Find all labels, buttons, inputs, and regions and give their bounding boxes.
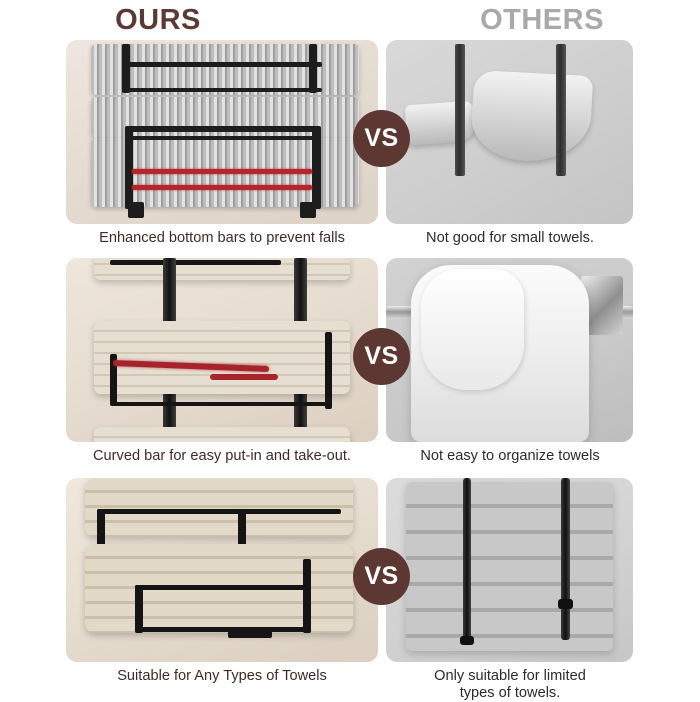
comparison-row-3: VS Suitable for Any Types of Towels Only… xyxy=(0,478,700,700)
red-highlight-bar-2 xyxy=(132,185,313,190)
shelf-frame-right xyxy=(325,332,332,409)
ours-photo-2 xyxy=(66,258,378,442)
ours-caption-2-text: Curved bar for easy put-in and take-out. xyxy=(93,448,351,465)
ours-caption-1: Enhanced bottom bars to prevent falls xyxy=(56,226,388,260)
upper-rack-bar xyxy=(97,509,340,514)
ours-caption-3: Suitable for Any Types of Towels xyxy=(56,664,388,698)
vs-badge-label-2: VS xyxy=(364,342,398,371)
lower-rack-bracket xyxy=(228,629,272,638)
comparison-infographic: OURS OTHERS xyxy=(0,0,700,700)
ours-image-card-1 xyxy=(66,40,378,224)
rack-bar-left xyxy=(455,44,465,176)
vertical-bar-left xyxy=(463,478,472,640)
ours-photo-1 xyxy=(66,40,378,224)
rack-bar-upper xyxy=(122,62,322,67)
red-highlight-bar-1 xyxy=(132,169,313,174)
rack-foot-right xyxy=(300,202,316,219)
others-image-card-2 xyxy=(386,258,633,442)
vertical-bar-cap-right xyxy=(558,599,573,608)
others-caption-2-text: Not easy to organize towels xyxy=(420,448,599,465)
rack-bar-lower xyxy=(125,126,320,131)
others-caption-3: Only suitable for limited types of towel… xyxy=(380,664,640,698)
towel-shelf-middle xyxy=(94,321,350,395)
towel-shelf-bottom xyxy=(94,427,350,442)
others-caption-3-line-1: Only suitable for limited xyxy=(434,668,586,685)
vs-badge-2: VS xyxy=(353,328,410,385)
vs-badge-label-1: VS xyxy=(364,124,398,153)
rack-post-lower-left xyxy=(125,126,133,209)
rack-post-right xyxy=(309,44,316,94)
rack-bar-upper-2 xyxy=(122,88,322,93)
rack-bar-right xyxy=(556,44,566,176)
lower-rack-post-right xyxy=(303,559,311,633)
row-3-cards: VS Suitable for Any Types of Towels Only… xyxy=(0,478,700,662)
falling-towel-right xyxy=(470,70,593,164)
lower-rack-bar xyxy=(135,585,310,590)
others-image-card-3 xyxy=(386,478,633,662)
rack-bar-lower-2 xyxy=(125,136,320,140)
row-1-cards: VS Enhanced bottom bars to prevent falls… xyxy=(0,40,700,224)
others-caption-2: Not easy to organize towels xyxy=(380,444,640,478)
rolled-towels-top xyxy=(85,478,353,537)
others-caption-1: Not good for small towels. xyxy=(380,226,640,260)
stacked-rolled-towels xyxy=(406,482,613,651)
shelf-frame-bottom xyxy=(110,402,332,407)
others-photo-1 xyxy=(386,40,633,224)
towel-fold xyxy=(421,269,525,390)
rack-post-left xyxy=(122,44,129,94)
falling-towel-left xyxy=(404,100,476,145)
ours-caption-1-text: Enhanced bottom bars to prevent falls xyxy=(99,230,345,247)
header: OURS OTHERS xyxy=(0,0,700,40)
comparison-row-2: VS Curved bar for easy put-in and take-o… xyxy=(0,258,700,474)
ours-image-card-2 xyxy=(66,258,378,442)
ours-caption-2: Curved bar for easy put-in and take-out. xyxy=(56,444,388,478)
shelf-frame-top xyxy=(110,260,282,265)
red-curved-bar-segment xyxy=(210,374,279,380)
others-photo-3 xyxy=(386,478,633,662)
others-caption-1-text: Not good for small towels. xyxy=(426,230,594,247)
lower-rack-post-left xyxy=(135,585,143,633)
comparison-row-1: VS Enhanced bottom bars to prevent falls… xyxy=(0,40,700,256)
vertical-bar-cap-left xyxy=(460,636,475,645)
header-cell-ours: OURS xyxy=(0,0,354,40)
others-title: OTHERS xyxy=(480,6,604,35)
lower-rack-bottom-bar xyxy=(135,627,310,632)
vs-badge-3: VS xyxy=(353,548,410,605)
vs-badge-1: VS xyxy=(353,110,410,167)
row-2-cards: VS Curved bar for easy put-in and take-o… xyxy=(0,258,700,442)
vs-badge-label-3: VS xyxy=(364,562,398,591)
rack-foot-left xyxy=(128,202,144,219)
others-photo-2 xyxy=(386,258,633,442)
ours-photo-3 xyxy=(66,478,378,662)
ours-caption-3-text: Suitable for Any Types of Towels xyxy=(117,668,327,685)
others-caption-3-line-2: types of towels. xyxy=(434,685,586,702)
header-cell-others: OTHERS xyxy=(354,0,700,40)
others-image-card-1 xyxy=(386,40,633,224)
vertical-bar-right xyxy=(561,478,570,640)
ours-image-card-3 xyxy=(66,478,378,662)
rack-post-lower-right xyxy=(312,126,320,209)
ours-title: OURS xyxy=(115,6,201,35)
